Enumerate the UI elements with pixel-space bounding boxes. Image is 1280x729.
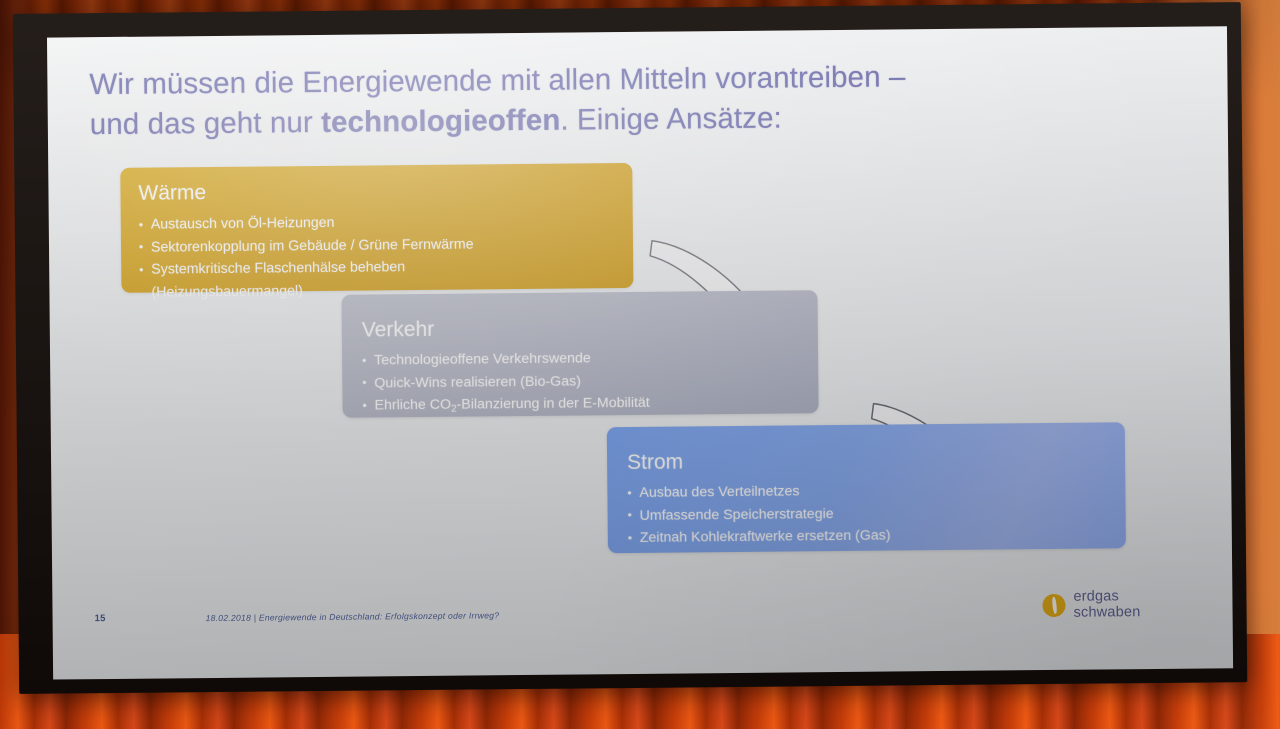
card-verkehr-bullet-list: Technologieoffene Verkehrswende Quick-Wi… [362, 345, 799, 419]
list-item-co2: Ehrliche CO2-Bilanzierung in der E-Mobil… [362, 390, 798, 419]
card-waerme: Wärme Austausch von Öl-Heizungen Sektore… [120, 163, 633, 293]
slide-title-line-2-suffix: . Einige Ansätze: [560, 102, 782, 137]
presentation-slide: Wir müssen die Energiewende mit allen Mi… [47, 26, 1233, 679]
brand-logo: erdgas schwaben [1042, 589, 1140, 621]
card-waerme-title: Wärme [138, 177, 614, 206]
projection-screen-frame: Wir müssen die Energiewende mit allen Mi… [13, 2, 1247, 694]
slide-title-emphasis: technologieoffen [321, 104, 561, 139]
card-strom-bullet-list: Ausbau des Verteilnetzes Umfassende Spei… [627, 477, 1106, 549]
brand-logo-line-1: erdgas [1073, 589, 1140, 605]
slide-page-number: 15 [95, 613, 106, 624]
flame-icon [1042, 594, 1065, 617]
co2-suffix: -Bilanzierung in der E-Mobilität [457, 395, 650, 413]
card-verkehr-title: Verkehr [362, 314, 798, 342]
list-item: Zeitnah Kohlekraftwerke ersetzen (Gas) [628, 522, 1106, 549]
card-strom: Strom Ausbau des Verteilnetzes Umfassend… [607, 422, 1126, 553]
card-waerme-bullet-list: Austausch von Öl-Heizungen Sektorenkoppl… [139, 209, 616, 304]
slide-footer-meta: 18.02.2018 | Energiewende in Deutschland… [206, 610, 500, 623]
slide-title: Wir müssen die Energiewende mit allen Mi… [89, 55, 1170, 145]
slide-title-line-1: Wir müssen die Energiewende mit allen Mi… [89, 60, 905, 101]
card-strom-title: Strom [627, 446, 1105, 475]
card-verkehr: Verkehr Technologieoffene Verkehrswende … [341, 290, 818, 418]
slide-title-line-2-prefix: und das geht nur [90, 106, 322, 141]
brand-logo-line-2: schwaben [1073, 605, 1140, 621]
co2-subscript: 2 [451, 404, 457, 415]
brand-logo-text: erdgas schwaben [1073, 589, 1140, 621]
co2-prefix: Ehrliche CO [374, 397, 451, 414]
